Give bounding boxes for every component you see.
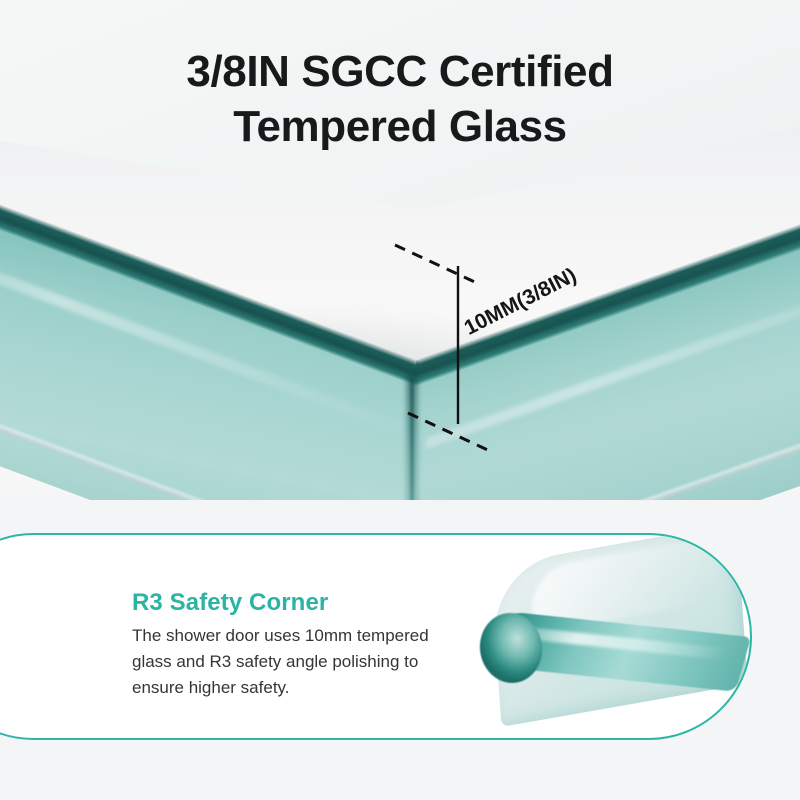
dimension-callout: 10MM(3/8IN) (0, 0, 800, 500)
product-feature-image: 3/8IN SGCC Certified Tempered Glass 10MM… (0, 0, 800, 800)
feature-card: R3 Safety Corner The shower door uses 10… (0, 533, 752, 740)
feature-card-title: R3 Safety Corner (132, 589, 328, 617)
rounded-corner-glass-photo (472, 533, 752, 740)
dimension-extension-line-bottom (408, 413, 490, 451)
dimension-lines-svg (0, 0, 800, 500)
dimension-extension-line-top (395, 245, 477, 283)
hero-section: 3/8IN SGCC Certified Tempered Glass 10MM… (0, 0, 800, 500)
feature-card-body: The shower door uses 10mm tempered glass… (132, 623, 462, 700)
